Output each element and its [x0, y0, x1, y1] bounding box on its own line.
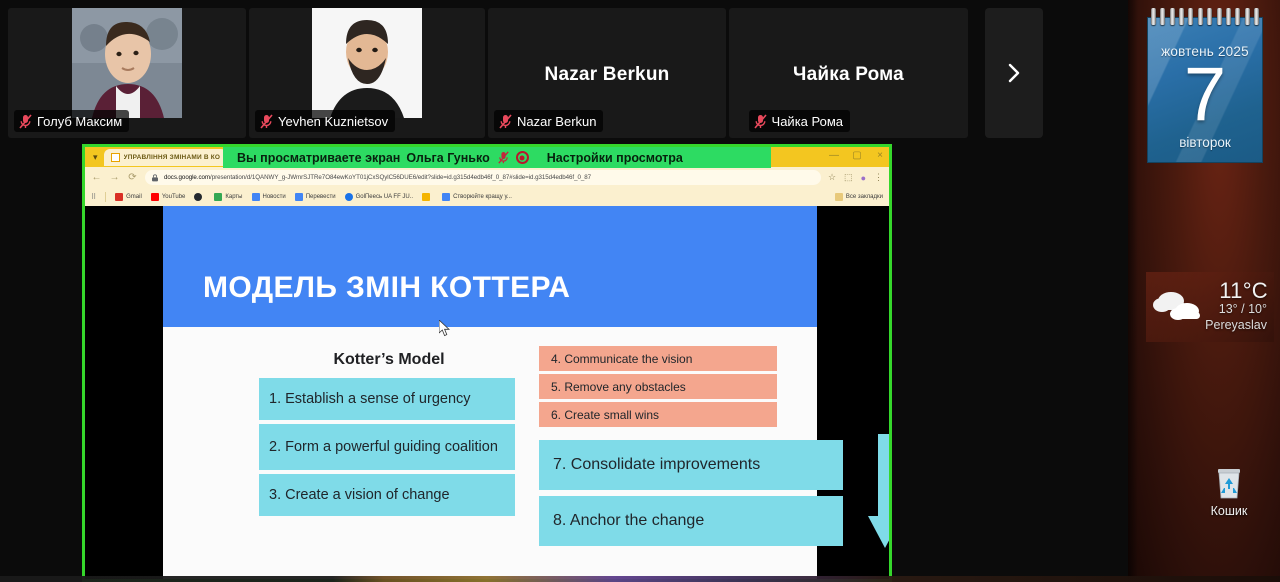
reload-icon[interactable]: ⟳ — [127, 172, 138, 183]
participant-tile[interactable]: Yevhen Kuznietsov — [249, 8, 485, 138]
profile-icon[interactable]: ● — [861, 173, 866, 183]
chevron-down-icon[interactable]: ▾ — [91, 153, 100, 162]
weather-widget: 11°C 13° / 10° Pereyaslav — [1146, 272, 1274, 342]
apps-grid-icon[interactable]: ⠿ — [91, 193, 96, 201]
recycle-bin-icon — [1214, 466, 1244, 500]
participant-name: Чайка Рома — [772, 114, 843, 129]
participant-display-name: Nazar Berkun — [488, 64, 726, 86]
step-box-3: 3. Create a vision of change — [259, 474, 515, 516]
bookmark-item[interactable] — [422, 193, 433, 201]
bookmark-item[interactable]: GolПеесь UA FF JU.. — [345, 193, 413, 201]
bookmark-item[interactable]: Новости — [252, 193, 286, 201]
maps-icon — [214, 193, 222, 201]
bookmark-label: Перевести — [306, 194, 336, 200]
docs-icon — [442, 193, 450, 201]
taskbar — [0, 576, 1280, 582]
mic-muted-icon — [754, 114, 767, 129]
screen-root: жовтень 2025 7 вівторок 11°C 13° / 10° P… — [0, 0, 1280, 582]
kotter-model-heading: Kotter’s Model — [259, 351, 519, 369]
participant-name-badge: Чайка Рома — [749, 110, 850, 132]
participant-video — [312, 8, 422, 118]
calendar-weekday: вівторок — [1148, 135, 1262, 150]
participant-video — [72, 8, 182, 118]
browser-tab[interactable]: УПРАВЛІННЯ ЗМІНАМИ В КО — [104, 149, 228, 166]
avatar — [312, 8, 422, 118]
step-box-1: 1. Establish a sense of urgency — [259, 378, 515, 420]
step-box-6: 6. Create small wins — [539, 402, 777, 427]
mic-muted-icon — [260, 114, 273, 129]
calendar-widget: жовтень 2025 7 вівторок — [1144, 8, 1266, 168]
bookmark-item[interactable]: YouTube — [151, 193, 186, 201]
mic-muted-icon — [19, 114, 32, 129]
participant-name-badge: Yevhen Kuznietsov — [255, 110, 395, 132]
gmail-icon — [115, 193, 123, 201]
step-box-2: 2. Form a powerful guiding coalition — [259, 424, 515, 470]
recycle-bin-shortcut[interactable]: Кошик — [1194, 466, 1264, 518]
participant-filmstrip: Голуб Максим — [0, 0, 1128, 145]
step-box-4: 4. Communicate the vision — [539, 346, 777, 371]
bookmarks-overflow[interactable]: Все закладки — [835, 193, 883, 201]
minimize-button[interactable]: — — [829, 150, 839, 162]
shared-screen-content: ▾ УПРАВЛІННЯ ЗМІНАМИ В КО — ▢ × ← — [85, 147, 889, 579]
bookmark-item[interactable]: Gmail — [115, 193, 142, 201]
calendar-rings-icon — [1148, 8, 1262, 26]
browser-tab-strip: ▾ УПРАВЛІННЯ ЗМІНАМИ В КО — [91, 149, 227, 166]
weather-temperature: 11°C — [1219, 278, 1268, 304]
participant-display-name: Чайка Рома — [729, 64, 968, 86]
browser-toolbar: ← → ⟳ docs.google.com/presentation/d/1QA… — [85, 167, 889, 188]
bookmark-label: Карты — [225, 194, 242, 200]
close-button[interactable]: × — [875, 150, 885, 162]
mic-muted-icon — [499, 114, 512, 129]
record-icon — [516, 151, 529, 164]
slide-title: МОДЕЛЬ ЗМІН КОТТЕРА — [203, 271, 570, 305]
weather-high-low: 13° / 10° — [1219, 302, 1267, 316]
browser-tab-title: УПРАВЛІННЯ ЗМІНАМИ В КО — [124, 154, 221, 161]
participant-name-badge: Nazar Berkun — [494, 110, 603, 132]
view-settings-button[interactable]: Настройки просмотра — [541, 149, 689, 167]
shared-screen-frame[interactable]: ▾ УПРАВЛІННЯ ЗМІНАМИ В КО — ▢ × ← — [82, 144, 892, 582]
share-banner-text: Вы просматриваете экран — [237, 151, 400, 165]
participant-name: Yevhen Kuznietsov — [278, 114, 388, 129]
bookmark-item[interactable]: Створюйте кращу у... — [442, 193, 512, 201]
toolbar-actions: ☆ ⬚ ● ⋮ — [828, 172, 883, 183]
down-arrow-icon — [867, 434, 892, 552]
page-content: МОДЕЛЬ ЗМІН КОТТЕРА Kotter’s Model 1. Es… — [85, 206, 889, 579]
step-label: 4. Communicate the vision — [551, 352, 692, 366]
bookmark-label: Новости — [263, 194, 286, 200]
step-label: 2. Form a powerful guiding coalition — [269, 439, 498, 456]
menu-icon[interactable]: ⋮ — [874, 172, 883, 183]
bookmark-label: Gmail — [126, 194, 142, 200]
participant-name: Nazar Berkun — [517, 114, 596, 129]
bookmark-label: Створюйте кращу у... — [453, 194, 512, 200]
translate-icon — [295, 193, 303, 201]
participant-tile[interactable]: Nazar Berkun Nazar Berkun — [488, 8, 726, 138]
maximize-button[interactable]: ▢ — [852, 150, 862, 162]
bookmarks-overflow-label: Все закладки — [846, 194, 883, 200]
step-label: 3. Create a vision of change — [269, 487, 450, 503]
conference-window: Голуб Максим — [0, 0, 1128, 582]
step-box-7: 7. Consolidate improvements — [539, 440, 843, 490]
step-label: 7. Consolidate improvements — [553, 456, 760, 474]
window-controls: — ▢ × — [829, 150, 885, 162]
step-label: 8. Anchor the change — [553, 512, 704, 530]
address-host: docs.google.com — [164, 174, 210, 181]
github-icon — [194, 193, 202, 201]
desktop-shade — [1128, 0, 1138, 582]
next-participants-button[interactable] — [985, 8, 1043, 138]
mic-muted-icon — [498, 151, 509, 164]
screen-share-banner: Вы просматриваете экран Ольга Гунько Нас… — [223, 147, 771, 168]
avatar — [72, 8, 182, 118]
calendar-body: жовтень 2025 7 вівторок — [1147, 17, 1263, 163]
globe-icon — [345, 193, 353, 201]
presentation-slide[interactable]: МОДЕЛЬ ЗМІН КОТТЕРА Kotter’s Model 1. Es… — [163, 206, 817, 579]
bookmarks-bar: ⠿ Gmail YouTube — [85, 188, 889, 206]
star-icon[interactable]: ☆ — [828, 172, 836, 183]
address-bar[interactable]: docs.google.com/presentation/d/1QANWY_g-… — [145, 170, 821, 185]
step-label: 1. Establish a sense of urgency — [269, 391, 471, 407]
bookmark-item[interactable] — [194, 193, 205, 201]
presentation-icon — [111, 153, 120, 162]
divider — [105, 192, 106, 202]
step-box-5: 5. Remove any obstacles — [539, 374, 777, 399]
share-banner-presenter: Ольга Гунько — [406, 151, 489, 165]
bookmark-item[interactable]: Перевести — [295, 193, 336, 201]
bookmark-label: GolПеесь UA FF JU.. — [356, 194, 413, 200]
extensions-icon[interactable]: ⬚ — [844, 172, 853, 183]
step-box-8: 8. Anchor the change — [539, 496, 843, 546]
lock-icon — [422, 193, 430, 201]
address-bar-text: docs.google.com/presentation/d/1QANWY_g-… — [164, 174, 591, 181]
mouse-cursor — [439, 320, 451, 337]
step-label: 5. Remove any obstacles — [551, 380, 686, 394]
back-icon[interactable]: ← — [91, 172, 102, 183]
forward-icon[interactable]: → — [109, 172, 120, 183]
site-info-icon — [151, 174, 159, 182]
participant-tile[interactable]: Голуб Максим — [8, 8, 246, 138]
step-label: 6. Create small wins — [551, 408, 659, 422]
recycle-bin-label: Кошик — [1194, 504, 1264, 518]
youtube-icon — [151, 193, 159, 201]
slide-header-band: МОДЕЛЬ ЗМІН КОТТЕРА — [163, 206, 817, 327]
weather-city: Pereyaslav — [1205, 318, 1267, 332]
address-path: /presentation/d/1QANWY_g-JWmrSJTRe7O84ew… — [210, 174, 591, 181]
participant-name: Голуб Максим — [37, 114, 122, 129]
chevron-right-icon — [1004, 59, 1024, 87]
bookmark-label: YouTube — [162, 194, 186, 200]
participant-name-badge: Голуб Максим — [14, 110, 129, 132]
bookmark-item[interactable]: Карты — [214, 193, 242, 201]
calendar-day: 7 — [1148, 52, 1262, 138]
news-icon — [252, 193, 260, 201]
cloudy-icon — [1152, 286, 1206, 324]
folder-icon — [835, 193, 843, 201]
participant-tile[interactable]: Чайка Рома Чайка Рома — [729, 8, 968, 138]
